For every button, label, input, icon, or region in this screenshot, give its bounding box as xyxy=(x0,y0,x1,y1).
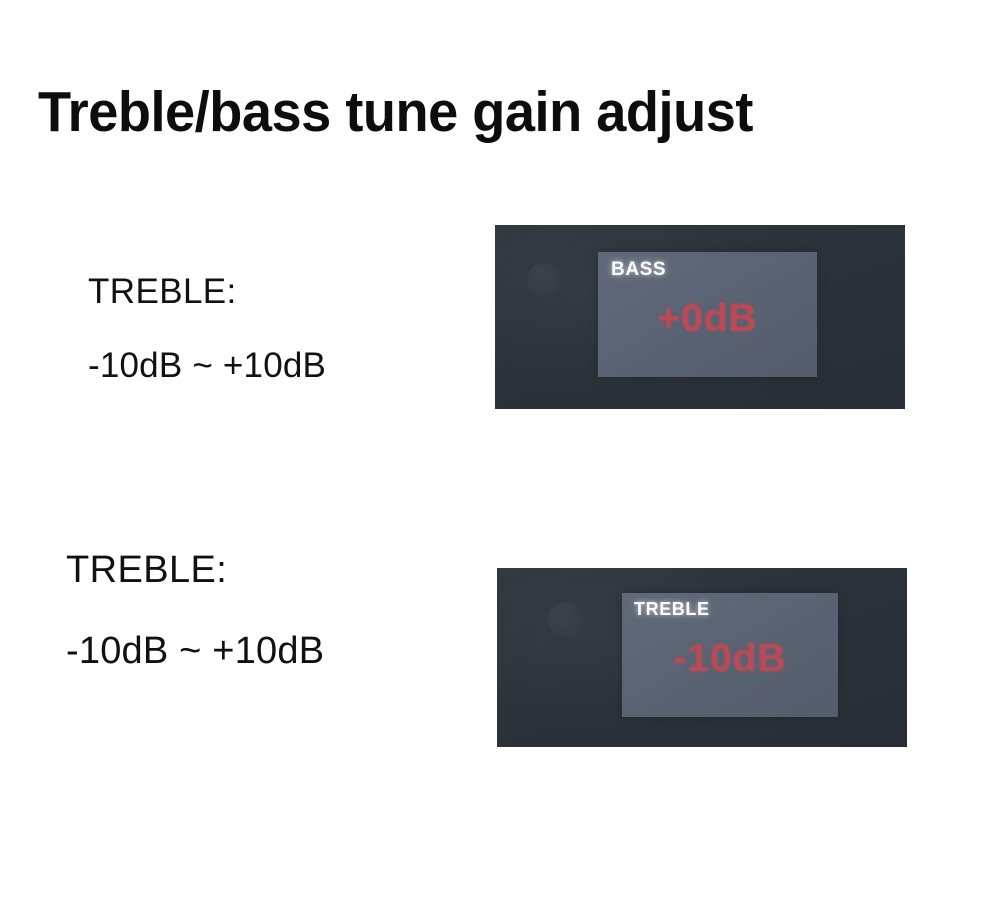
knob-dial-icon[interactable] xyxy=(527,263,560,296)
screen-label-bass: BASS xyxy=(611,259,666,281)
page-root: Treble/bass tune gain adjust TREBLE: -10… xyxy=(0,0,1000,900)
spec-range-1: -10dB ~ +10dB xyxy=(88,346,326,386)
knob-dial-icon[interactable] xyxy=(548,602,583,637)
screen-value-treble: -10dB xyxy=(622,637,838,681)
screen-value-bass: +0dB xyxy=(598,297,817,341)
page-title: Treble/bass tune gain adjust xyxy=(38,82,753,144)
spec-label-1: TREBLE: xyxy=(88,272,326,312)
spec-block-bass: TREBLE: -10dB ~ +10dB xyxy=(88,272,326,386)
screen-label-treble: TREBLE xyxy=(634,599,710,620)
display-screen-bass: BASS +0dB xyxy=(598,252,817,377)
spec-range-2: -10dB ~ +10dB xyxy=(66,630,324,673)
spec-label-2: TREBLE: xyxy=(66,549,324,592)
device-module-treble: TREBLE -10dB xyxy=(497,568,907,747)
spec-block-treble: TREBLE: -10dB ~ +10dB xyxy=(66,549,324,673)
display-screen-treble: TREBLE -10dB xyxy=(622,593,838,717)
device-module-bass: BASS +0dB xyxy=(495,225,905,409)
